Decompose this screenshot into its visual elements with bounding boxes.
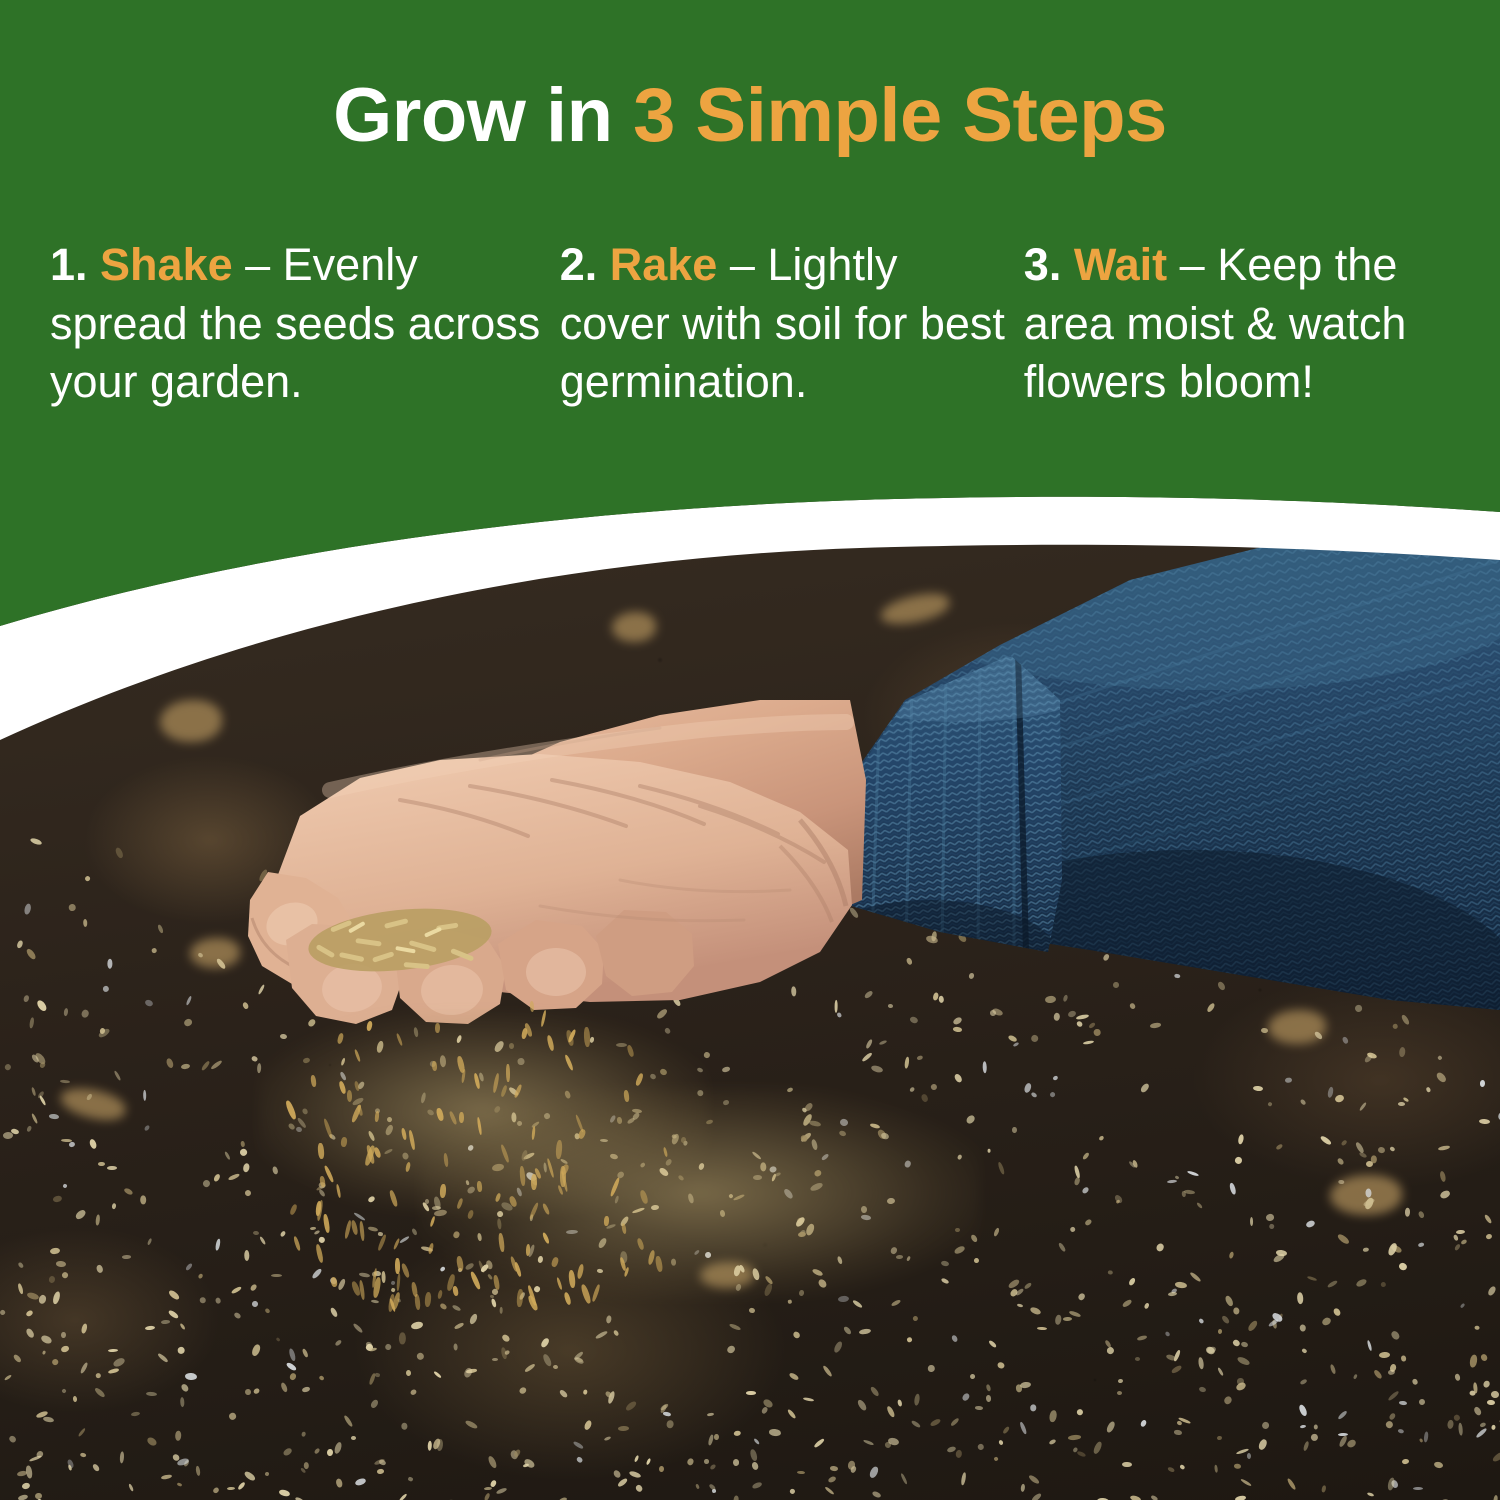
- hand-and-arm: 1: [0, 0, 1500, 1500]
- page-title: Grow in 3 Simple Steps: [0, 78, 1500, 154]
- poster: 1 Grow in 3 Simple Steps 1. Shake – Even…: [0, 0, 1500, 1500]
- step-keyword: Rake: [610, 239, 718, 290]
- step-keyword: Wait: [1074, 239, 1167, 290]
- finger-ring-nail: [526, 948, 586, 996]
- page-title-plain: Grow in: [333, 73, 633, 158]
- step-item-2: 2. Rake – Lightly cover with soil for be…: [560, 236, 1024, 412]
- steps-list: 1. Shake – Evenly spread the seeds acros…: [50, 236, 1470, 412]
- step-item-3: 3. Wait – Keep the area moist & watch fl…: [1024, 236, 1470, 412]
- step-item-1: 1. Shake – Evenly spread the seeds acros…: [50, 236, 560, 412]
- seed-landing-patch: [420, 1088, 980, 1298]
- step-keyword: Shake: [100, 239, 233, 290]
- step-number: 1.: [50, 239, 88, 290]
- step-number: 2.: [560, 239, 598, 290]
- page-title-accent: 3 Simple Steps: [633, 73, 1167, 158]
- step-number: 3.: [1024, 239, 1062, 290]
